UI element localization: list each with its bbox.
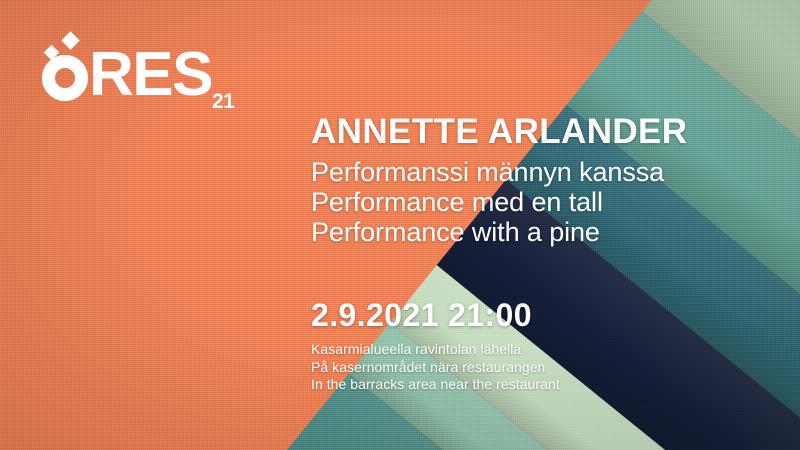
- subtitle-en: Performance with a pine: [311, 217, 781, 247]
- logo-wordmark: RES: [42, 44, 212, 106]
- venue-en: In the barracks area near the restaurant: [311, 376, 781, 394]
- ores-logo[interactable]: RES 21: [42, 30, 222, 112]
- subtitle-group: Performanssi männyn kanssa Performance m…: [311, 157, 781, 247]
- venue-group: Kasarmialueella ravintolan lähellä På ka…: [311, 341, 781, 394]
- logo-year: 21: [212, 90, 234, 114]
- page-title: ANNETTE ARLANDER: [311, 112, 781, 152]
- event-datetime: 2.9.2021 21:00: [311, 297, 781, 333]
- subtitle-fi: Performanssi männyn kanssa: [311, 157, 781, 187]
- logo-wordmark-text: RES: [89, 40, 212, 109]
- venue-fi: Kasarmialueella ravintolan lähellä: [311, 341, 781, 359]
- subtitle-sv: Performance med en tall: [311, 187, 781, 217]
- logo-o-ring-icon: [42, 55, 88, 101]
- event-poster: RES 21 ANNETTE ARLANDER Performanssi män…: [0, 0, 800, 450]
- poster-content: ANNETTE ARLANDER Performanssi männyn kan…: [311, 112, 781, 394]
- venue-sv: På kasernområdet nära restaurangen: [311, 359, 781, 377]
